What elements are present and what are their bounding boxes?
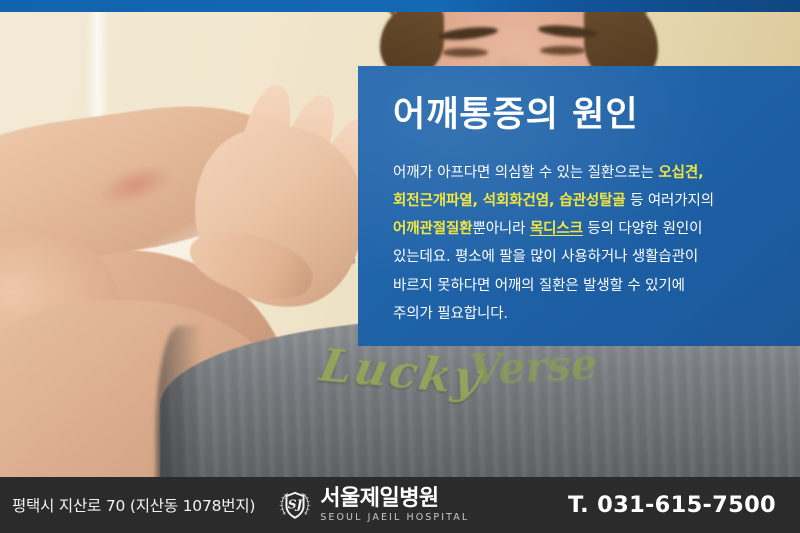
body-text-highlight: 목디스크: [530, 221, 583, 237]
eye-left: [442, 48, 488, 57]
body-text-run: 등의 다양한 원인이: [583, 221, 702, 237]
panel-body-line: 바르지 못하다면 어깨의 질환은 발생할 수 있기에: [393, 272, 788, 300]
panel-body-line: 있는데요. 평소에 팔을 많이 사용하거나 생활습관이: [393, 243, 788, 271]
body-text-highlight: 오십견,: [658, 165, 703, 181]
panel-body-line: 어깨관절질환뿐아니라 목디스크 등의 다양한 원인이: [393, 215, 788, 243]
panel-title: 어깨통증의 원인: [393, 96, 800, 135]
hospital-name-english: SEOUL JAEIL HOSPITAL: [320, 513, 469, 523]
footer-phone-number[interactable]: T. 031-615-7500: [568, 492, 776, 518]
emblem-monogram: SJ: [288, 498, 304, 512]
body-text-run: 주의가 필요합니다.: [393, 306, 508, 322]
footer-address: 평택시 지산로 70 (지산동 1078번지): [12, 494, 255, 516]
body-text-run: 있는데요. 평소에 팔을 많이 사용하거나 생활습관이: [393, 249, 698, 265]
body-text-run: 어깨가 아프다면 의심할 수 있는 질환으로는: [393, 165, 658, 181]
panel-body-line: 어깨가 아프다면 의심할 수 있는 질환으로는 오십견,: [393, 159, 788, 187]
top-accent-strip: [0, 0, 800, 12]
panel-body-line: 회전근개파열, 석회화건염, 습관성탈골 등 여러가지의: [393, 187, 788, 215]
hospital-logo[interactable]: SJ 서울제일병원 SEOUL JAEIL HOSPITAL: [277, 487, 469, 523]
body-text-highlight: 어깨관절질환: [393, 221, 472, 237]
panel-body-line: 주의가 필요합니다.: [393, 300, 788, 328]
body-text-run: 등 여러가지의: [626, 193, 714, 209]
eye-right: [540, 46, 586, 55]
hospital-name-korean: 서울제일병원: [320, 488, 469, 510]
footer-bar: 평택시 지산로 70 (지산동 1078번지) SJ: [0, 477, 800, 533]
body-text-highlight: 회전근개파열, 석회화건염, 습관성탈골: [393, 193, 626, 209]
promotional-banner: Lucky Verse 어깨통증의 원인 어깨가 아프다면 의심할 수 있는 질…: [0, 0, 800, 533]
body-text-run: 뿐아니라: [472, 221, 529, 237]
body-text-run: 바르지 못하다면 어깨의 질환은 발생할 수 있기에: [393, 278, 685, 294]
panel-body-text: 어깨가 아프다면 의심할 수 있는 질환으로는 오십견,회전근개파열, 석회화건…: [393, 159, 788, 329]
info-panel: 어깨통증의 원인 어깨가 아프다면 의심할 수 있는 질환으로는 오십견,회전근…: [358, 66, 800, 346]
shield-laurel-emblem-icon: SJ: [277, 487, 313, 523]
